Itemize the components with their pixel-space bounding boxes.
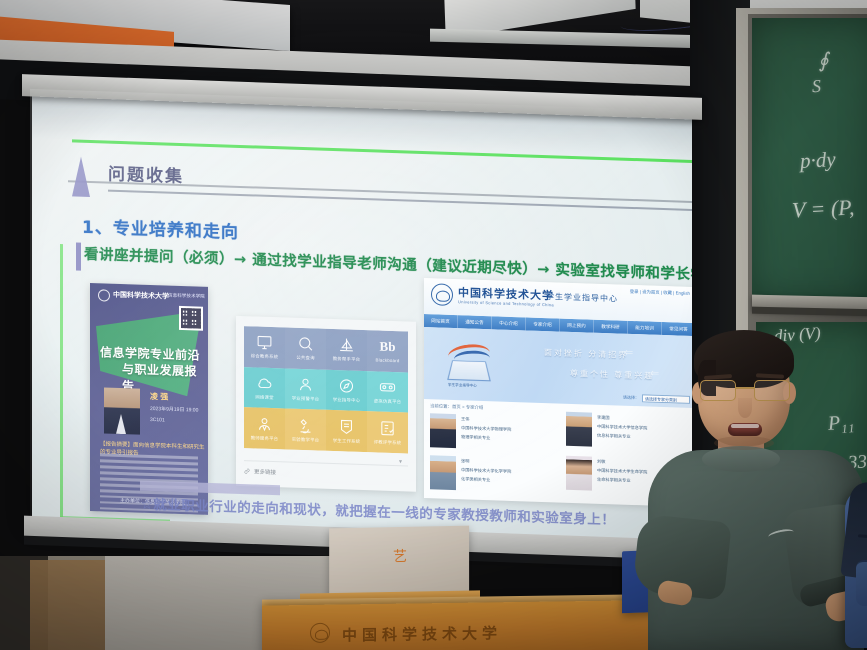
app-label: 网络课堂: [255, 394, 273, 401]
app-cell-warning: 学业预警平台: [285, 368, 326, 410]
app-label: 公共查询: [296, 355, 314, 362]
app-cell-evaluation: 评教评学系统: [367, 411, 408, 453]
sail-icon: [338, 337, 355, 355]
expert-field: 物理学相关专业: [461, 434, 554, 443]
app-grid: 综合教务系统 公共查询 教务帮手平台 Bb Blackboard: [244, 326, 408, 453]
app-label: 虚拟仿真平台: [374, 398, 402, 405]
app-label: 综合教务系统: [251, 354, 279, 361]
app-label: 实验教学平台: [292, 436, 320, 443]
nav-item-research[interactable]: 教学科研: [594, 320, 628, 334]
banner-slogan-1: 面对挫折 分清招界: [544, 347, 628, 361]
poster-university: 中国科学技术大学: [113, 290, 169, 302]
nav-item-about[interactable]: 中心介绍: [492, 316, 526, 330]
checklist-icon: [379, 419, 396, 437]
lecture-hall-scene: ∮ S p·dy V = (P, div (V) P₁₁ 33 问题收集 1、专…: [0, 0, 867, 650]
nav-item-experts[interactable]: 专家介绍: [526, 317, 560, 331]
app-label: 学业预警平台: [292, 396, 320, 403]
teacher-icon: [256, 415, 273, 433]
nav-item-notice[interactable]: 通知公告: [458, 315, 492, 329]
app-label: 教务帮手平台: [333, 356, 361, 363]
expert-info: 张明 中国科学技术大学化学学院 化学类相关专业: [461, 456, 554, 499]
qr-code-icon: [179, 306, 203, 331]
website-center-name: 学生学业指导中心: [546, 291, 618, 304]
website-top-links[interactable]: 登录 | 设为首页 | 收藏 | English: [630, 289, 690, 297]
backpack-pocket: [856, 560, 867, 606]
poster-location: 3C101: [150, 417, 165, 423]
app-cell-cloud: 网络课堂: [244, 367, 285, 409]
chalk-text-surface: S: [811, 76, 821, 97]
expert-card[interactable]: 张明 中国科学技术大学化学学院 化学类相关专业: [430, 455, 554, 499]
poster-time: 2023年9月19日 19:00: [150, 405, 198, 414]
app-label: 评教评学系统: [374, 439, 402, 446]
app-cell-assistant: 教务帮手平台: [326, 329, 367, 371]
laptop-logo: 艺: [393, 546, 407, 566]
monitor-icon: [256, 334, 273, 352]
app-cell-blackboard: Bb Blackboard: [367, 330, 408, 372]
app-label: 教师服务平台: [251, 435, 279, 442]
slide-content: 问题收集 1、专业培养和走向 看讲座并提问（必须）→ 通过找学业指导老师沟通（建…: [68, 142, 692, 541]
center-logo-icon: 学生学业指导中心: [442, 342, 496, 388]
slide-heading: 1、专业培养和走向: [82, 213, 239, 243]
person-icon: [297, 376, 314, 394]
slide-title: 问题收集: [108, 160, 184, 188]
ustc-seal-icon: [431, 283, 453, 306]
nose: [738, 398, 752, 418]
app-cell-guidance: 学业指导中心: [326, 369, 367, 411]
mouth: [728, 423, 762, 436]
app-label: Blackboard: [376, 358, 400, 364]
expert-dept: 中国科学技术大学化学学院: [461, 467, 554, 476]
ustc-seal-icon: [98, 289, 110, 301]
ustc-seal-icon: [310, 623, 330, 643]
bb-icon: Bb: [380, 339, 396, 356]
document-icon: [338, 418, 355, 436]
expert-dept: 中国科学技术大学物理学院: [461, 425, 554, 434]
subheading-bar: [76, 243, 81, 271]
chalk-text-pdy: p·dy: [799, 147, 836, 174]
chalk-text-vector: V = (P,: [791, 194, 855, 223]
laptop-silver[interactable]: 艺: [329, 526, 469, 602]
title-underline: [108, 190, 692, 211]
arrow-left-icon: ⇐: [624, 346, 633, 359]
expert-field: 化学类相关专业: [461, 476, 554, 485]
center-logo-caption: 学生学业指导中心: [448, 383, 477, 389]
speaker-portrait: [104, 387, 140, 434]
microscope-icon: [297, 416, 314, 434]
expert-card[interactable]: 王伟 中国科学技术大学物理学院 物理学相关专业: [430, 413, 554, 457]
poster-speaker-name: 凌 强: [150, 391, 168, 403]
expert-info: 王伟 中国科学技术大学物理学院 物理学相关专业: [461, 414, 554, 457]
projection-screen: 问题收集 1、专业培养和走向 看讲座并提问（必须）→ 通过找学业指导老师沟通（建…: [32, 93, 692, 545]
expert-name: 王伟: [461, 416, 554, 425]
nav-item-booking[interactable]: 网上预约: [560, 319, 594, 333]
more-links-row[interactable]: 更多链接: [244, 460, 408, 480]
app-cell-teacher: 教师服务平台: [244, 407, 285, 449]
podium-engraving: 中国科学技术大学: [342, 622, 502, 645]
app-cell-query: 公共查询: [285, 327, 326, 369]
nav-item-home[interactable]: 网站首页: [424, 314, 458, 328]
app-cell-studentwork: 学生工作系统: [326, 410, 367, 452]
link-icon: [244, 468, 250, 474]
chalk-text-integral: ∮: [817, 48, 829, 74]
compass-icon: [338, 377, 355, 395]
expert-photo: [566, 456, 592, 491]
app-cell-vr: 虚拟仿真平台: [367, 371, 408, 413]
projector-edge-left: [60, 244, 63, 519]
speaker-person: [640, 330, 867, 650]
app-cell-jiaowu: 综合教务系统: [244, 326, 285, 368]
poster-department: 信息科学技术学院: [168, 293, 205, 300]
expert-photo: [566, 412, 592, 447]
expert-photo: [430, 413, 456, 448]
filter-label: 请选择：: [623, 395, 639, 402]
expert-photo: [430, 455, 456, 490]
vr-icon: [379, 379, 396, 397]
slide-subheading: 看讲座并提问（必须）→ 通过找学业指导老师沟通（建议近期尽快）→ 实验室找导师和…: [84, 243, 692, 288]
app-cell-lab: 实验教学平台: [285, 409, 326, 451]
chevron-down-icon[interactable]: ▾: [399, 458, 402, 465]
expert-name: 张明: [461, 458, 554, 467]
chin-shadow: [714, 436, 774, 450]
title-decoration-shape: [72, 156, 90, 197]
cloud-icon: [256, 374, 273, 392]
search-icon: [297, 335, 314, 353]
app-grid-screenshot: 综合教务系统 公共查询 教务帮手平台 Bb Blackboard: [236, 316, 416, 492]
app-label: 学生工作系统: [333, 438, 361, 445]
app-label: 学业指导中心: [333, 397, 361, 404]
more-links-label: 更多链接: [254, 467, 276, 476]
